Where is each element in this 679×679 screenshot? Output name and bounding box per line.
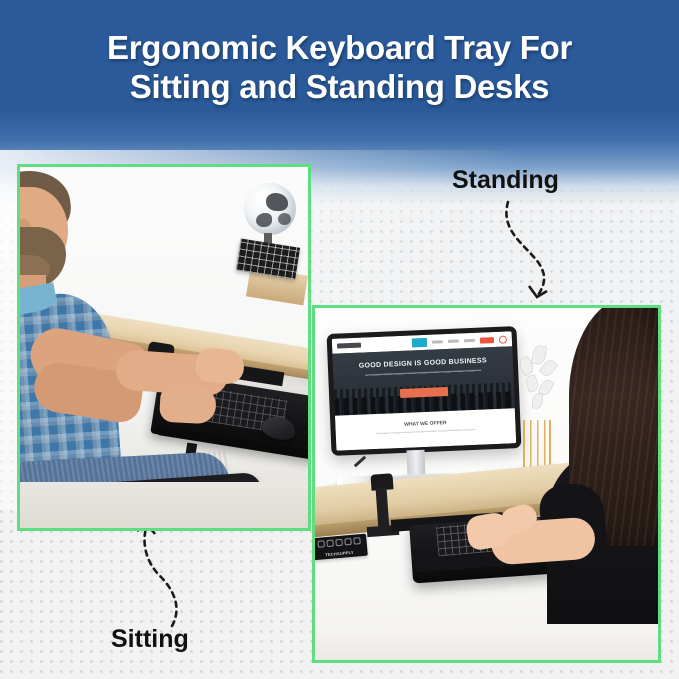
photo-sitting bbox=[17, 164, 311, 531]
nav-cta-button bbox=[480, 337, 494, 344]
nav-link bbox=[432, 340, 443, 343]
nav-link bbox=[464, 339, 475, 342]
control-panel-button[interactable] bbox=[317, 540, 325, 548]
plant-leaf bbox=[533, 394, 543, 409]
hero-heading: GOOD DESIGN IS GOOD BUSINESS bbox=[333, 356, 513, 371]
page-title: Ergonomic Keyboard Tray For Sitting and … bbox=[0, 28, 679, 106]
website-section: WHAT WE OFFER bbox=[335, 408, 516, 451]
monitor: GOOD DESIGN IS GOOD BUSINESS WHAT WE OFF… bbox=[327, 326, 522, 456]
control-panel-button[interactable] bbox=[335, 539, 343, 547]
website-hero: GOOD DESIGN IS GOOD BUSINESS bbox=[332, 346, 514, 415]
control-panel-button[interactable] bbox=[344, 538, 352, 546]
man-hand-left bbox=[159, 384, 217, 425]
control-panel-button[interactable] bbox=[326, 540, 334, 548]
globe-decor bbox=[244, 183, 296, 235]
nav-active-item bbox=[412, 338, 427, 348]
headline-line-1: Ergonomic Keyboard Tray For bbox=[107, 29, 572, 66]
decorative-plant bbox=[513, 346, 563, 426]
nav-cart-icon bbox=[499, 335, 507, 343]
dashed-curved-arrow-down-icon bbox=[498, 196, 568, 306]
floor bbox=[20, 482, 308, 528]
hero-paragraph bbox=[366, 370, 482, 385]
dashed-curved-arrow-up-icon bbox=[128, 518, 198, 630]
website-logo bbox=[337, 343, 361, 349]
sitting-scene bbox=[20, 167, 308, 528]
section-heading: WHAT WE OFFER bbox=[335, 417, 515, 431]
globe-landmass bbox=[278, 213, 291, 225]
control-panel-button[interactable] bbox=[353, 537, 361, 545]
monitor-screen: GOOD DESIGN IS GOOD BUSINESS WHAT WE OFF… bbox=[332, 331, 517, 450]
plant-leaf bbox=[525, 375, 539, 392]
globe-landmass bbox=[266, 193, 288, 211]
standing-scene: GOOD DESIGN IS GOOD BUSINESS WHAT WE OFF… bbox=[315, 308, 658, 660]
spacer bbox=[366, 343, 407, 345]
globe-landmass bbox=[256, 213, 272, 227]
photo-standing: GOOD DESIGN IS GOOD BUSINESS WHAT WE OFF… bbox=[312, 305, 661, 663]
nav-link bbox=[448, 339, 459, 342]
standing-label: Standing bbox=[452, 166, 559, 195]
headline-line-2: Sitting and Standing Desks bbox=[0, 67, 679, 106]
plant-leaf bbox=[532, 345, 547, 365]
infographic-page: Ergonomic Keyboard Tray For Sitting and … bbox=[0, 0, 679, 679]
floor bbox=[315, 624, 658, 660]
section-paragraph bbox=[375, 429, 476, 441]
